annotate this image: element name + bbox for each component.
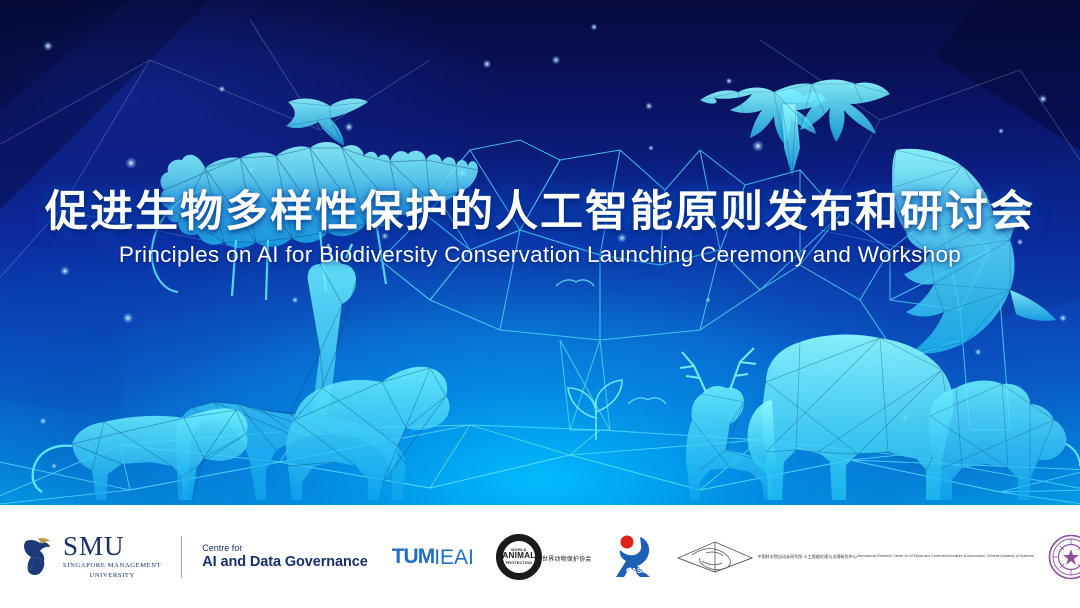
casia-mark: CASIA [610,533,662,581]
irc-chinese: 中国科学院自动化研究所 人工智能伦理与治理研究中心 [758,554,857,560]
logo-world-animal-protection: WORLD ANIMAL PROTECTION 世界动物保护协会 [496,534,592,580]
smu-subtitle-line2: UNIVERSITY [63,572,161,580]
eagle-wireframe [700,80,890,177]
irc-mark [672,539,758,575]
casia-acronym: CASIA [626,566,650,575]
irc-english-line1: International Research Center for AI Eth… [857,554,950,559]
smu-divider [181,536,182,578]
banner-artwork: 促进生物多样性保护的人工智能原则发布和研讨会 Principles on AI … [0,0,1080,505]
banner-titles: 促进生物多样性保护的人工智能原则发布和研讨会 Principles on AI … [0,188,1080,268]
smu-subtitle-line1: SINGAPORE MANAGEMENT [63,562,161,570]
small-birds [556,280,666,404]
logo-smu: SMU SINGAPORE MANAGEMENT UNIVERSITY Cent… [20,533,368,580]
title-chinese: 促进生物多样性保护的人工智能原则发布和研讨会 [0,188,1080,236]
irc-english-line2: Institute of Automation, Chinese Academy… [950,554,1034,559]
wap-chinese: 世界动物保护协会 [542,554,592,563]
leopard-wireframe [33,408,248,500]
tsinghua-seal [1048,534,1080,580]
conference-banner: 促进生物多样性保护的人工智能原则发布和研讨会 Principles on AI … [0,0,1080,608]
sponsor-logo-bar: SMU SINGAPORE MANAGEMENT UNIVERSITY Cent… [0,505,1080,608]
wap-protection: PROTECTION [506,561,533,565]
lion-wireframe [929,381,1080,500]
wap-animal: ANIMAL [502,552,535,561]
logo-cas-ai-ethics-centre: 中国科学院自动化研究所 人工智能伦理与治理研究中心 International … [672,539,1034,575]
title-english: Principles on AI for Biodiversity Conser… [0,242,1080,268]
ieai-acronym: IEAI [434,547,474,568]
cadg-name: AI and Data Governance [202,554,367,570]
tum-acronym: TUM [392,546,435,567]
wap-ring-mark: WORLD ANIMAL PROTECTION [496,534,542,580]
cadg-centre-for: Centre for [202,543,367,553]
logo-tsinghua-i-aiig: I-AIIG 清华大学人工智能国际治理研究院 INSTITUTE FOR AI … [1048,534,1080,580]
logo-tum-ieai: TUM IEAI [392,545,474,568]
smu-lion-mark [20,537,54,577]
cadg-wordmark: Centre for AI and Data Governance [202,543,367,570]
smu-wordmark: SMU SINGAPORE MANAGEMENT UNIVERSITY [63,533,161,580]
swallow-wireframe [286,99,368,146]
deer-antlers [680,348,756,392]
logo-casia: CASIA [610,533,662,581]
smu-acronym: SMU [63,533,161,560]
